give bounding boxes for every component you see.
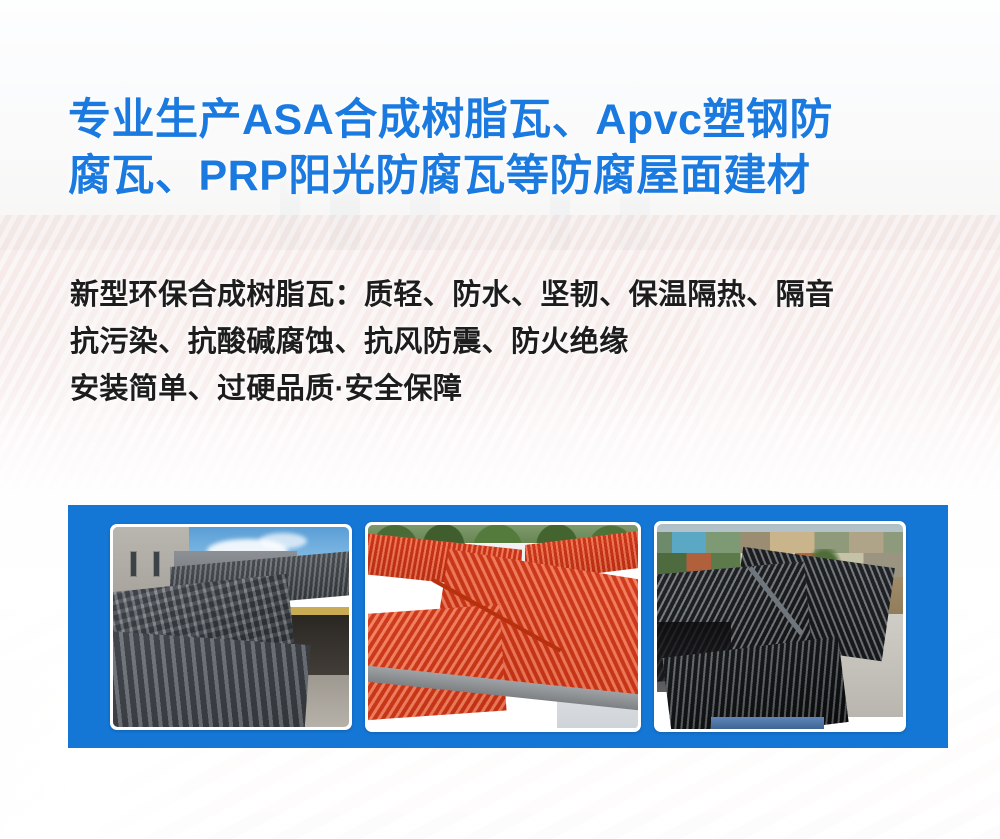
promo-banner: 专业生产ASA合成树脂瓦、Apvc塑钢防 腐瓦、PRP阳光防腐瓦等防腐屋面建材 … [0,0,1000,839]
photo3-blue-canopy [711,717,824,729]
photo1-window [130,551,137,577]
subcopy-line-3: 安装简单、过硬品质·安全保障 [70,366,960,413]
subcopy-line-2: 抗污染、抗酸碱腐蚀、抗风防震、防火绝缘 [70,319,960,366]
headline-block: 专业生产ASA合成树脂瓦、Apvc塑钢防 腐瓦、PRP阳光防腐瓦等防腐屋面建材 [68,92,948,204]
photo1-cloud-small [259,533,306,549]
photo1-window [153,551,160,577]
subcopy-line-1: 新型环保合成树脂瓦：质轻、防水、坚韧、保温隔热、隔音 [70,272,960,319]
roof-photo-black[interactable] [657,524,903,729]
headline-line-1: 专业生产ASA合成树脂瓦、Apvc塑钢防 [68,92,948,148]
photo-frame-3[interactable] [654,521,906,732]
subcopy-block: 新型环保合成树脂瓦：质轻、防水、坚韧、保温隔热、隔音 抗污染、抗酸碱腐蚀、抗风防… [70,272,960,413]
headline-line-2: 腐瓦、PRP阳光防腐瓦等防腐屋面建材 [68,148,948,204]
roof-photo-red[interactable] [368,525,638,729]
photo-frame-1[interactable] [110,524,352,730]
photo-frame-2[interactable] [365,522,641,732]
photo1-lower-roof [113,631,311,727]
roof-photo-grey[interactable] [113,527,349,727]
banner-content: 专业生产ASA合成树脂瓦、Apvc塑钢防 腐瓦、PRP阳光防腐瓦等防腐屋面建材 … [0,0,1000,839]
photo-gallery-panel [68,505,948,748]
photo2-main-roof-left [368,605,507,722]
